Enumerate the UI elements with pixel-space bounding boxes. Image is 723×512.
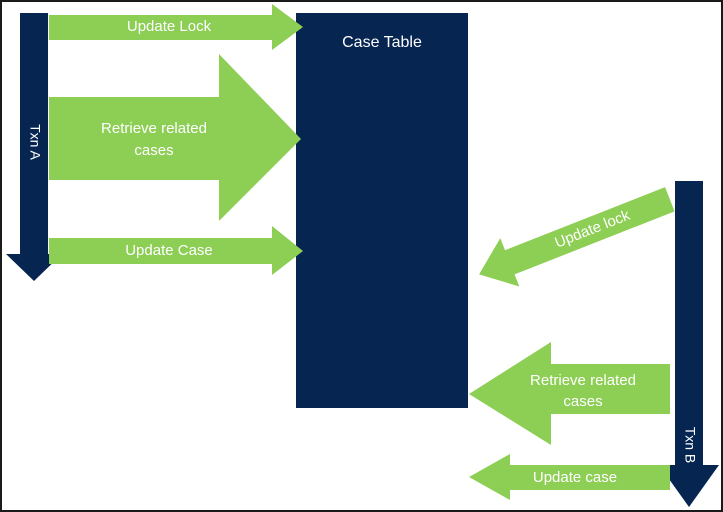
txn-b-label: Txn B — [682, 427, 698, 464]
message-retrieve-related-cases-a[interactable]: Retrieve related cases — [49, 54, 301, 221]
update-case-a-label: Update Case — [125, 242, 213, 259]
message-update-lock-a[interactable]: Update Lock — [49, 4, 303, 50]
case-table-label: Case Table — [342, 34, 422, 51]
retrieve-related-cases-a-label-line2: cases — [134, 142, 173, 159]
message-update-lock-b[interactable]: Update lock — [470, 175, 680, 299]
update-case-b-label: Update case — [533, 469, 617, 486]
case-table-rect — [296, 13, 468, 408]
case-table-entity[interactable]: Case Table — [296, 13, 468, 408]
retrieve-related-cases-a-label-line1: Retrieve related — [101, 120, 207, 137]
update-lock-a-label: Update Lock — [127, 18, 212, 35]
transaction-lock-sequence-diagram: Txn A Case Table Txn B Update Lock Retri… — [2, 2, 723, 512]
message-update-case-a[interactable]: Update Case — [49, 226, 303, 275]
message-retrieve-related-cases-b[interactable]: Retrieve related cases — [469, 342, 670, 445]
retrieve-related-cases-b-label-line2: cases — [563, 393, 602, 410]
diagram-canvas: Txn A Case Table Txn B Update Lock Retri… — [0, 0, 723, 512]
retrieve-related-cases-a-arrow-shape — [49, 54, 301, 221]
retrieve-related-cases-b-label-line1: Retrieve related — [530, 372, 636, 389]
message-update-case-b[interactable]: Update case — [469, 454, 670, 500]
txn-a-label: Txn A — [27, 124, 43, 160]
txn-b-lane[interactable]: Txn B — [659, 181, 719, 507]
